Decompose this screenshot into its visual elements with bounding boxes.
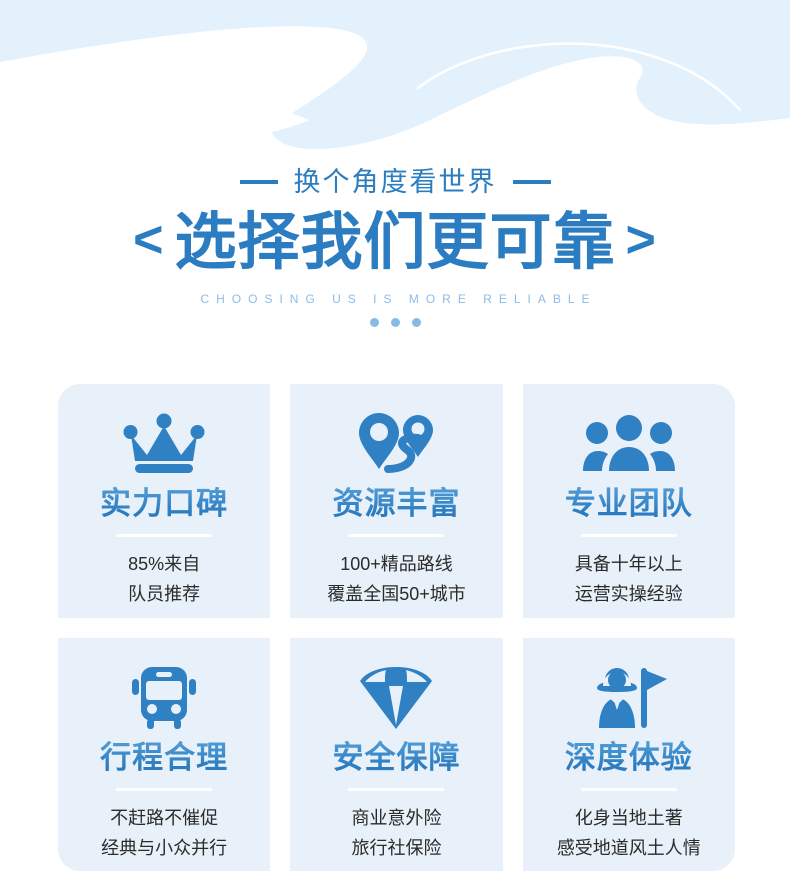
bracket-left: < (133, 211, 164, 269)
diamond-icon (358, 662, 434, 734)
feature-card-resources[interactable]: 资源丰富 100+精品路线 覆盖全国50+城市 (290, 384, 502, 618)
dash-right-icon (513, 180, 551, 184)
bubble-large-icon (200, 35, 222, 59)
hero-banner (0, 0, 790, 160)
bus-icon (129, 662, 199, 734)
bubble-small-icon (223, 47, 235, 59)
feature-card-title: 实力口碑 (100, 484, 228, 524)
desc-line-2: 覆盖全国50+城市 (327, 579, 466, 609)
bracket-right: > (626, 211, 657, 269)
route-pin-icon (355, 408, 437, 480)
crown-icon (123, 408, 205, 480)
feature-card-desc: 具备十年以上 运营实操经验 (575, 549, 683, 609)
eyebrow-line: 换个角度看世界 (0, 160, 790, 204)
feature-card-experience[interactable]: 深度体验 化身当地土著 感受地道风土人情 (523, 638, 735, 872)
feature-card-desc: 化身当地土著 感受地道风土人情 (557, 803, 701, 863)
feature-card-desc: 100+精品路线 覆盖全国50+城市 (327, 549, 466, 609)
feature-card-title: 资源丰富 (332, 484, 460, 524)
card-divider (348, 788, 444, 791)
card-divider (581, 788, 677, 791)
dot-2-icon (391, 318, 400, 327)
feature-card-title: 行程合理 (100, 738, 228, 778)
promo-page: 换个角度看世界 <选择我们更可靠> CHOOSING US IS MORE RE… (0, 0, 790, 881)
team-people-icon (583, 408, 675, 480)
card-divider (116, 788, 212, 791)
desc-line-1: 100+精品路线 (327, 549, 466, 579)
feature-card-reputation[interactable]: 实力口碑 85%来自 队员推荐 (58, 384, 270, 618)
desc-line-2: 队员推荐 (128, 579, 200, 609)
feature-card-title: 深度体验 (565, 738, 693, 778)
desc-line-1: 化身当地土著 (557, 803, 701, 833)
feature-card-desc: 不赶路不催促 经典与小众并行 (101, 803, 227, 863)
feature-card-safety[interactable]: 安全保障 商业意外险 旅行社保险 (290, 638, 502, 872)
feature-card-itinerary[interactable]: 行程合理 不赶路不催促 经典与小众并行 (58, 638, 270, 872)
desc-line-1: 商业意外险 (351, 803, 441, 833)
wave-decoration-svg (0, 0, 790, 160)
tour-guide-flag-icon (591, 662, 667, 734)
desc-line-1: 85%来自 (128, 549, 200, 579)
card-divider (348, 534, 444, 537)
page-title: <选择我们更可靠> (0, 204, 790, 285)
dot-1-icon (370, 318, 379, 327)
dot-3-icon (412, 318, 421, 327)
subtitle-english: CHOOSING US IS MORE RELIABLE (0, 285, 790, 313)
page-title-text: 选择我们更可靠 (174, 208, 615, 277)
feature-grid: 实力口碑 85%来自 队员推荐 资源丰富 100+精品路线 (58, 384, 735, 871)
desc-line-2: 运营实操经验 (575, 579, 683, 609)
desc-line-1: 具备十年以上 (575, 549, 683, 579)
dot-separator (0, 318, 790, 328)
heading-block: 换个角度看世界 <选择我们更可靠> CHOOSING US IS MORE RE… (0, 160, 790, 328)
card-divider (116, 534, 212, 537)
feature-card-desc: 85%来自 队员推荐 (128, 549, 200, 609)
feature-card-title: 专业团队 (565, 484, 693, 524)
desc-line-2: 经典与小众并行 (101, 833, 227, 863)
eyebrow-text: 换个角度看世界 (294, 167, 497, 197)
feature-card-team[interactable]: 专业团队 具备十年以上 运营实操经验 (523, 384, 735, 618)
desc-line-2: 感受地道风土人情 (557, 833, 701, 863)
feature-card-desc: 商业意外险 旅行社保险 (351, 803, 441, 863)
card-divider (581, 534, 677, 537)
dash-left-icon (240, 180, 278, 184)
feature-card-title: 安全保障 (332, 738, 460, 778)
desc-line-1: 不赶路不催促 (101, 803, 227, 833)
desc-line-2: 旅行社保险 (351, 833, 441, 863)
